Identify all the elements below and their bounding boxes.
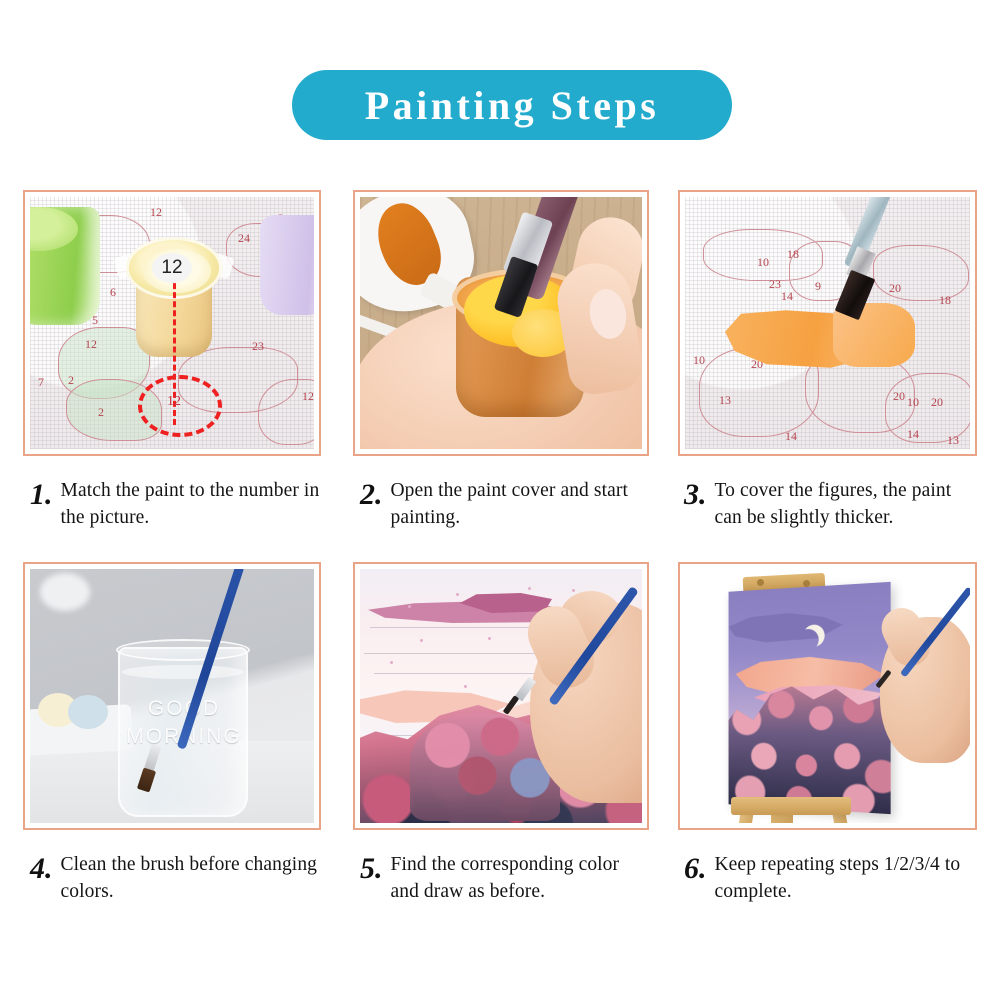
canvas-number-label: 20 [931, 395, 943, 410]
canvas-number-label: 14 [907, 427, 919, 442]
step-5-text: Find the corresponding color and draw as… [391, 852, 653, 906]
step-1-photo: 12242247651272223242312 12 12 [30, 197, 314, 449]
canvas-number-label: 23 [252, 339, 264, 354]
step-4-photo: GOOD MORNING [30, 569, 314, 823]
finished-painting-canvas [729, 582, 891, 814]
page-title: Painting Steps [365, 82, 660, 129]
guide-dot [572, 589, 575, 592]
step-6-number: 6. [684, 852, 707, 884]
image-frame: 12242247651272223242312 12 12 [23, 190, 321, 456]
canvas-number-label: 9 [815, 279, 821, 294]
step-3-photo: 1018231492018102013142010201413 [685, 197, 970, 449]
step-5-number: 5. [360, 852, 383, 884]
canvas-region-outline [873, 245, 969, 301]
canvas-number-label: 7 [38, 375, 44, 390]
step-1-text: Match the paint to the number in the pic… [61, 478, 321, 532]
step-2-image-panel [353, 190, 649, 456]
canvas-number-label: 13 [719, 393, 731, 408]
guide-dot [408, 605, 411, 608]
canvas-number-label: 10 [693, 353, 705, 368]
canvas-number-label: 18 [939, 293, 951, 308]
canvas-number-label: 6 [110, 285, 116, 300]
guide-dot [464, 685, 467, 688]
guide-dot [420, 639, 423, 642]
step-5-photo [360, 569, 642, 823]
canvas-number-label: 12 [85, 337, 97, 352]
step-6-image-panel [678, 562, 977, 830]
guide-dot [456, 593, 459, 596]
canvas-number-label: 2 [68, 373, 74, 388]
step-2-photo [360, 197, 642, 449]
canvas-number-label: 12 [150, 205, 162, 220]
image-frame [353, 562, 649, 830]
paint-pot-lid [30, 207, 78, 251]
water-surface [122, 665, 244, 679]
step-2-text: Open the paint cover and start painting. [391, 478, 651, 532]
step-4-number: 4. [30, 852, 53, 884]
step-5-image-panel [353, 562, 649, 830]
image-frame [353, 190, 649, 456]
paint-pot-number-badge: 12 [152, 253, 192, 283]
image-frame: 1018231492018102013142010201413 [678, 190, 977, 456]
canvas-number-label: 13 [947, 433, 959, 448]
painting-steps-infographic: Painting Steps 12242247651272223242312 [0, 0, 1000, 1000]
step-4-text: Clean the brush before changing colors. [61, 852, 321, 906]
canvas-number-label: 14 [781, 289, 793, 304]
page-title-banner: Painting Steps [292, 70, 732, 140]
canvas-number-label: 23 [769, 277, 781, 292]
step-3-image-panel: 1018231492018102013142010201413 [678, 190, 977, 456]
guide-dot [528, 587, 531, 590]
canvas-number-label: 18 [787, 247, 799, 262]
step-1-caption: 1. Match the paint to the number in the … [30, 478, 320, 532]
canvas-number-label: 14 [785, 429, 797, 444]
glass-rim [116, 639, 250, 661]
step-2-number: 2. [360, 478, 383, 510]
background-object [68, 695, 108, 729]
canvas-number-label: 12 [302, 389, 314, 404]
step-3-caption: 3. To cover the figures, the paint can b… [684, 478, 980, 532]
step-5-caption: 5. Find the corresponding color and draw… [360, 852, 652, 906]
easel-shelf [731, 797, 851, 815]
glass-text-line-1: GOOD [126, 695, 242, 723]
step-4-caption: 4. Clean the brush before changing color… [30, 852, 320, 906]
canvas-number-label: 20 [893, 389, 905, 404]
paint-pot-green [30, 207, 100, 325]
step-3-number: 3. [684, 478, 707, 510]
step-1-number: 1. [30, 478, 53, 510]
image-frame: GOOD MORNING [23, 562, 321, 830]
canvas-number-label: 10 [907, 395, 919, 410]
step-3-text: To cover the figures, the paint can be s… [715, 478, 981, 532]
guide-dot [488, 637, 491, 640]
background-object [40, 573, 90, 611]
step-6-text: Keep repeating steps 1/2/3/4 to complete… [715, 852, 975, 906]
step-6-photo [685, 569, 970, 823]
canvas-number-label: 2 [98, 405, 104, 420]
guide-dot [390, 661, 393, 664]
canvas-number-label: 24 [238, 231, 250, 246]
easel-knob [757, 579, 764, 586]
step-4-image-panel: GOOD MORNING [23, 562, 321, 830]
image-frame [678, 562, 977, 830]
canvas-number-label: 10 [757, 255, 769, 270]
step-6-caption: 6. Keep repeating steps 1/2/3/4 to compl… [684, 852, 974, 906]
callout-target-number: 12 [167, 394, 181, 410]
canvas-number-label: 20 [889, 281, 901, 296]
paint-pot-purple [260, 215, 314, 315]
step-2-caption: 2. Open the paint cover and start painti… [360, 478, 650, 532]
step-1-image-panel: 12242247651272223242312 12 12 [23, 190, 321, 456]
